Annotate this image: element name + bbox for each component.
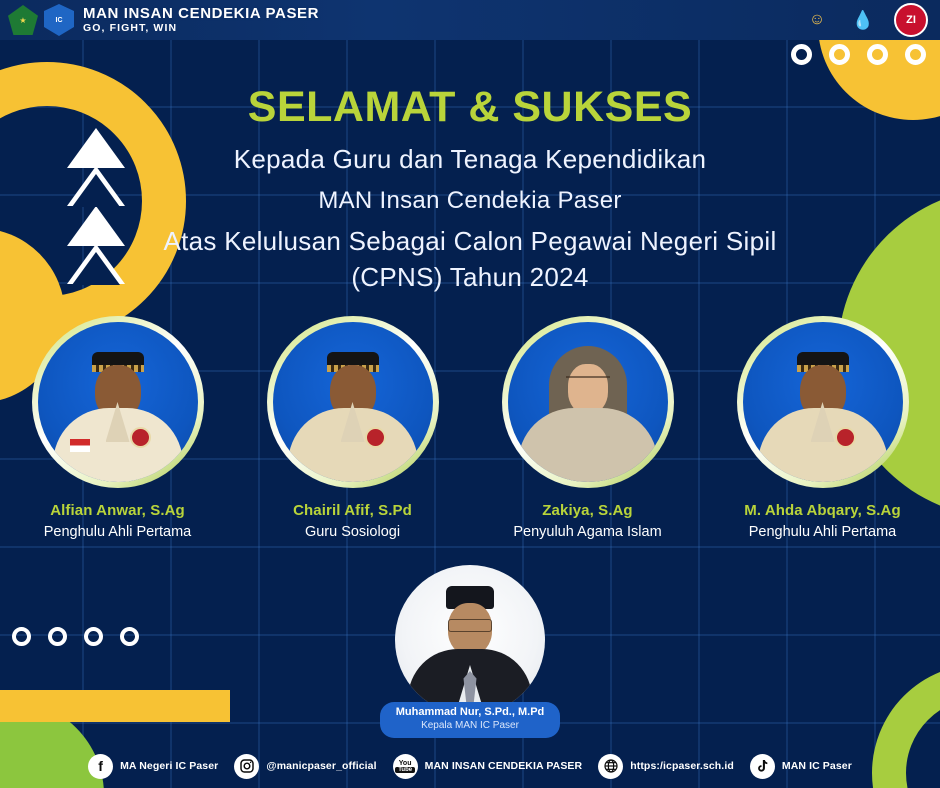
subtitle-line-4: (CPNS) Tahun 2024	[0, 262, 940, 293]
honoree-card: Chairil Afif, S.Pd Guru Sosiologi	[245, 316, 460, 540]
ring-dot-icon	[48, 627, 67, 646]
header-bar: ★ IC MAN INSAN CENDEKIA PASER GO, FIGHT,…	[0, 0, 940, 40]
ring-dot-icon	[12, 627, 31, 646]
instagram-icon[interactable]	[234, 754, 259, 779]
social-item-tiktok[interactable]: MAN IC Paser	[750, 754, 852, 779]
facebook-icon[interactable]: f	[88, 754, 113, 779]
ring-dot-icon	[84, 627, 103, 646]
ring-dots-bottom-left	[12, 627, 139, 646]
subtitle-line-3: Atas Kelulusan Sebagai Calon Pegawai Neg…	[0, 226, 940, 257]
main-headline: SELAMAT & SUKSES	[0, 84, 940, 131]
flag-patch-shape	[70, 439, 90, 452]
ayunda-water-logo-icon: 💧	[848, 5, 878, 35]
brand-title: MAN INSAN CENDEKIA PASER	[83, 6, 319, 22]
honoree-name: Chairil Afif, S.Pd	[245, 502, 460, 519]
portrait-m-ahda-abqary	[743, 322, 903, 482]
portrait-principal	[395, 565, 545, 715]
honoree-role: Penghulu Ahli Pertama	[715, 524, 930, 540]
ring-dot-icon	[120, 627, 139, 646]
glasses-shape	[448, 619, 492, 632]
brand-tagline: GO, FIGHT, WIN	[83, 23, 319, 34]
portrait-chairil-afif	[273, 322, 433, 482]
uniform-shape	[518, 408, 658, 482]
principal-name-badge: Muhammad Nur, S.Pd., M.Pd Kepala MAN IC …	[380, 702, 561, 737]
glasses-shape	[566, 376, 610, 388]
tiktok-handle: MAN IC Paser	[782, 760, 852, 772]
ring-dot-icon	[905, 44, 926, 65]
photo-ring	[32, 316, 204, 488]
social-footer: f MA Negeri IC Paser @manicpaser_officia…	[0, 744, 940, 788]
honoree-card: M. Ahda Abqary, S.Ag Penghulu Ahli Perta…	[715, 316, 930, 540]
honoree-list: Alfian Anwar, S.Ag Penghulu Ahli Pertama…	[0, 316, 940, 540]
facebook-handle: MA Negeri IC Paser	[120, 760, 218, 772]
honoree-name: Alfian Anwar, S.Ag	[10, 502, 225, 519]
principal-role: Kepala MAN IC Paser	[396, 720, 545, 733]
ring-dot-icon	[829, 44, 850, 65]
youtube-handle: MAN INSAN CENDEKIA PASER	[425, 760, 583, 772]
honoree-name: Zakiya, S.Ag	[480, 502, 695, 519]
honoree-name: M. Ahda Abqary, S.Ag	[715, 502, 930, 519]
social-item-youtube[interactable]: YouTube MAN INSAN CENDEKIA PASER	[393, 754, 583, 779]
ring-dot-icon	[791, 44, 812, 65]
portrait-alfian-anwar	[38, 322, 198, 482]
kemenag-logo-icon: ★	[8, 5, 38, 35]
portrait-zakiya	[508, 322, 668, 482]
website-url: https:/icpaser.sch.id	[630, 760, 734, 772]
subtitle-line-1: Kepada Guru dan Tenaga Kependidikan	[0, 144, 940, 175]
instagram-handle: @manicpaser_official	[266, 760, 376, 772]
photo-ring	[502, 316, 674, 488]
website-icon[interactable]	[598, 754, 623, 779]
subtitle-line-2: MAN Insan Cendekia Paser	[0, 187, 940, 215]
man-ic-logo-icon: IC	[44, 4, 74, 36]
poster-canvas: ★ IC MAN INSAN CENDEKIA PASER GO, FIGHT,…	[0, 0, 940, 788]
youtube-icon[interactable]: YouTube	[393, 754, 418, 779]
honoree-card: Alfian Anwar, S.Ag Penghulu Ahli Pertama	[10, 316, 225, 540]
honoree-card: Zakiya, S.Ag Penyuluh Agama Islam	[480, 316, 695, 540]
social-item-instagram[interactable]: @manicpaser_official	[234, 754, 376, 779]
principal-name: Muhammad Nur, S.Pd., M.Pd	[396, 706, 545, 720]
social-item-website[interactable]: https:/icpaser.sch.id	[598, 754, 734, 779]
photo-ring	[267, 316, 439, 488]
ring-dot-icon	[867, 44, 888, 65]
header-partner-logos: ☺ 💧 ZI	[802, 3, 928, 37]
principal-block: Muhammad Nur, S.Pd., M.Pd Kepala MAN IC …	[0, 565, 940, 738]
zona-integritas-logo-icon: ZI	[894, 3, 928, 37]
honoree-role: Penghulu Ahli Pertama	[10, 524, 225, 540]
honoree-role: Guru Sosiologi	[245, 524, 460, 540]
photo-ring	[737, 316, 909, 488]
brand: MAN INSAN CENDEKIA PASER GO, FIGHT, WIN	[83, 6, 319, 35]
title-block: SELAMAT & SUKSES Kepada Guru dan Tenaga …	[0, 84, 940, 293]
face-shape	[568, 364, 608, 414]
tiktok-icon[interactable]	[750, 754, 775, 779]
ring-dots-top-right	[791, 44, 926, 65]
social-item-facebook[interactable]: f MA Negeri IC Paser	[88, 754, 218, 779]
honoree-role: Penyuluh Agama Islam	[480, 524, 695, 540]
kip-madrasah-logo-icon: ☺	[802, 5, 832, 35]
